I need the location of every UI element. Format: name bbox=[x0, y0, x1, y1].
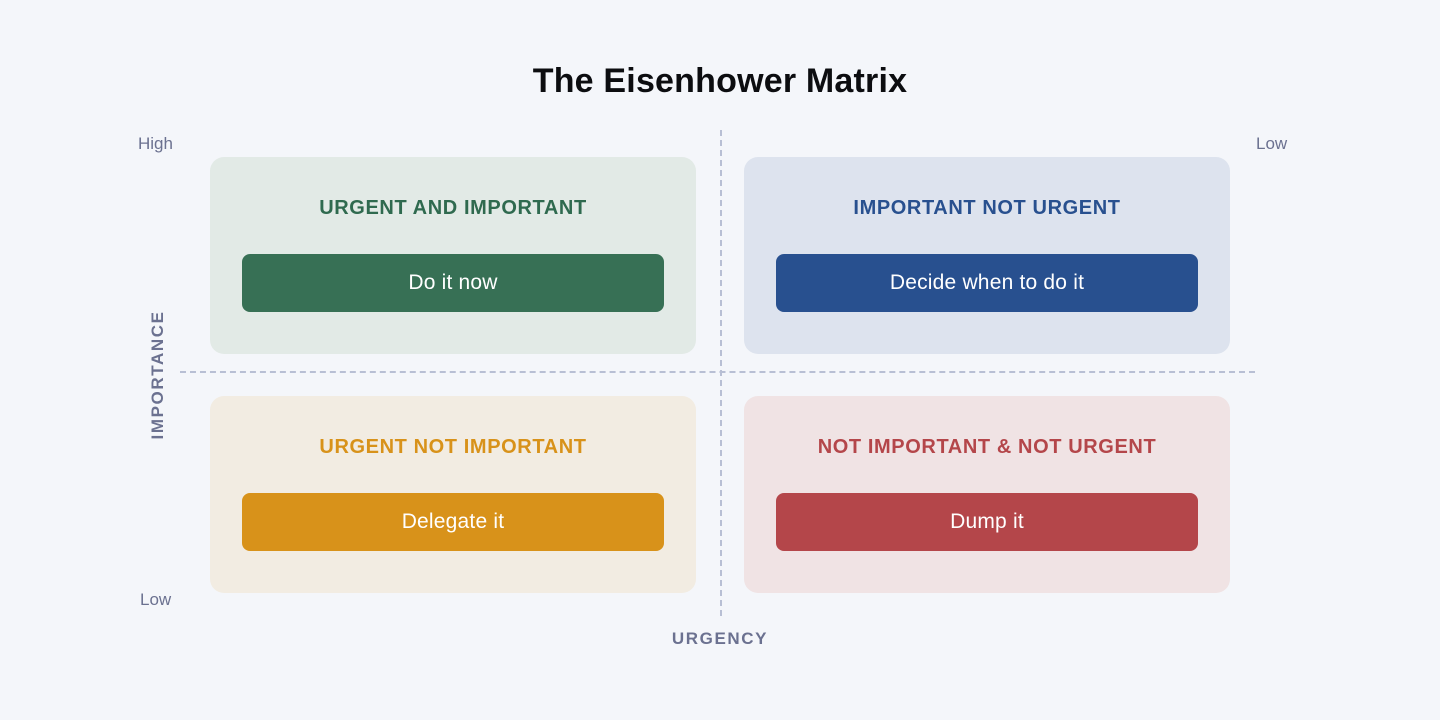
quadrant-heading: IMPORTANT NOT URGENT bbox=[744, 197, 1230, 220]
axis-tick-urgency-low: Low bbox=[1256, 134, 1287, 154]
action-button-dump-it[interactable]: Dump it bbox=[776, 493, 1198, 551]
action-button-delegate-it[interactable]: Delegate it bbox=[242, 493, 664, 551]
page-title: The Eisenhower Matrix bbox=[0, 62, 1440, 101]
axis-tick-importance-low: Low bbox=[140, 590, 171, 610]
quadrant-important-not-urgent: IMPORTANT NOT URGENT Decide when to do i… bbox=[744, 157, 1230, 354]
quadrant-heading: URGENT NOT IMPORTANT bbox=[210, 436, 696, 459]
quadrant-not-important-and-not-urgent: NOT IMPORTANT & NOT URGENT Dump it bbox=[744, 396, 1230, 593]
action-button-decide-when-to-do-it[interactable]: Decide when to do it bbox=[776, 254, 1198, 312]
axis-tick-importance-high: High bbox=[138, 134, 173, 154]
axis-divider-vertical bbox=[720, 130, 722, 616]
axis-divider-horizontal bbox=[180, 371, 1255, 373]
axis-label-urgency: URGENCY bbox=[0, 629, 1440, 649]
quadrant-heading: URGENT AND IMPORTANT bbox=[210, 197, 696, 220]
action-button-do-it-now[interactable]: Do it now bbox=[242, 254, 664, 312]
axis-label-importance: IMPORTANCE bbox=[148, 310, 168, 439]
eisenhower-matrix-diagram: The Eisenhower Matrix High Low Low IMPOR… bbox=[0, 0, 1440, 720]
quadrant-urgent-and-important: URGENT AND IMPORTANT Do it now bbox=[210, 157, 696, 354]
quadrant-heading: NOT IMPORTANT & NOT URGENT bbox=[744, 436, 1230, 459]
quadrant-urgent-not-important: URGENT NOT IMPORTANT Delegate it bbox=[210, 396, 696, 593]
